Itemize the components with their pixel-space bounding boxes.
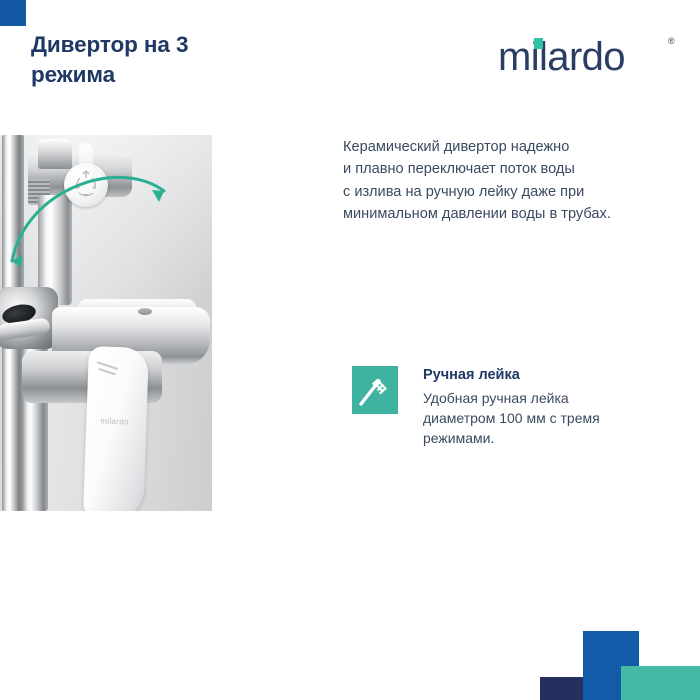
corner-accent-square: [0, 0, 26, 26]
mixer-lever-handle: milardo: [83, 346, 149, 511]
deco-teal-rect: [621, 666, 700, 700]
feature-description: Удобная ручная лейка диаметром 100 мм с …: [423, 388, 653, 449]
infographic-canvas: Дивертор на 3 режима milardo ®: [0, 0, 700, 700]
brand-logo-dot-icon: [534, 38, 543, 49]
hand-shower-icon: [352, 366, 398, 414]
page-title-line-2: режима: [31, 62, 115, 87]
lever-brand-text: milardo: [100, 416, 129, 426]
shower-holder: [0, 287, 58, 349]
feature-desc-line-3: режимами.: [423, 428, 653, 448]
paragraph-line-4: минимальном давлении воды в трубах.: [343, 203, 673, 225]
registered-trademark-icon: ®: [668, 36, 675, 46]
feature-desc-line-2: диаметром 100 мм с тремя: [423, 408, 653, 428]
shower-pipe: [22, 321, 48, 511]
feature-desc-line-1: Удобная ручная лейка: [423, 388, 653, 408]
product-photo: milardo: [0, 135, 212, 511]
page-title-line-1: Дивертор на 3: [31, 32, 188, 57]
lever-notch: [98, 368, 116, 375]
hand-shower-glyph: [352, 366, 398, 414]
diverter-position-marks-icon: [64, 163, 108, 207]
description-paragraph: Керамический дивертор надежно и плавно п…: [343, 136, 673, 226]
paragraph-line-3: с излива на ручную лейку даже при: [343, 181, 673, 203]
brand-logo: milardo ®: [498, 36, 678, 78]
feature-text: Ручная лейка Удобная ручная лейка диамет…: [423, 366, 653, 448]
feature-title: Ручная лейка: [423, 366, 653, 386]
page-title: Дивертор на 3 режима: [31, 30, 301, 90]
paragraph-line-1: Керамический дивертор надежно: [343, 136, 673, 158]
paragraph-line-2: и плавно переключает поток воды: [343, 158, 673, 180]
brand-logo-text: milardo: [498, 36, 625, 78]
spout-detail: [138, 308, 152, 315]
